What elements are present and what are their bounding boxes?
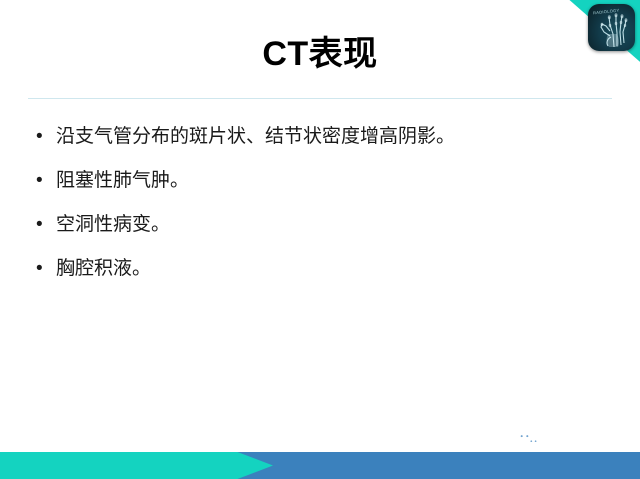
- list-item-label: 沿支气管分布的斑片状、结节状密度增高阴影。: [56, 122, 455, 152]
- slide-canvas: RADIOLOGY CT表现: [0, 0, 640, 479]
- list-item: • 沿支气管分布的斑片状、结节状密度增高阴影。: [32, 122, 612, 166]
- list-item-label: 阻塞性肺气肿。: [56, 166, 189, 196]
- footer-band-teal: [0, 452, 273, 479]
- bullet-icon: •: [32, 122, 56, 152]
- list-item: • 阻塞性肺气肿。: [32, 166, 612, 210]
- bullet-icon: •: [32, 254, 56, 284]
- wechat-icon: [515, 430, 541, 450]
- page-title: CT表现: [0, 30, 640, 78]
- bullet-icon: •: [32, 166, 56, 196]
- list-item: • 空洞性病变。: [32, 210, 612, 254]
- list-item: • 胸腔积液。: [32, 254, 612, 298]
- list-item-label: 胸腔积液。: [56, 254, 151, 284]
- watermark: 放射沙龙: [515, 430, 624, 450]
- bullet-list: • 沿支气管分布的斑片状、结节状密度增高阴影。 • 阻塞性肺气肿。 • 空洞性病…: [32, 122, 612, 298]
- watermark-label: 放射沙龙: [548, 430, 624, 450]
- bullet-icon: •: [32, 210, 56, 240]
- footer-band-highlight: [0, 451, 640, 452]
- list-item-label: 空洞性病变。: [56, 210, 170, 240]
- title-divider: [28, 98, 612, 99]
